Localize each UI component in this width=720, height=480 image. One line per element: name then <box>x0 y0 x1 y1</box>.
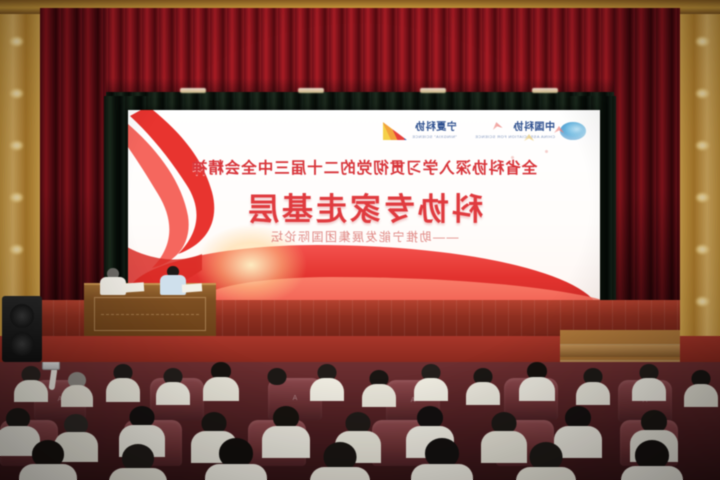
audience-member <box>26 440 70 480</box>
audience-member <box>468 368 498 402</box>
logo-label-en: "NINGXIA" SCIENCE <box>412 135 457 139</box>
audience-member <box>318 442 362 480</box>
globe-icon <box>560 122 586 140</box>
audience-member <box>116 444 160 480</box>
audience-member <box>262 368 292 402</box>
confetti-dot-icon <box>545 150 548 153</box>
audience-member <box>524 442 568 480</box>
audience-member <box>268 406 304 450</box>
audience-member <box>312 364 342 398</box>
audience-area: A A A A A A <box>0 362 720 480</box>
logo-label-cn: 宁夏科协 <box>412 123 457 133</box>
banner-subtitle: ——助推宁能发展集团国际论坛 <box>128 228 600 245</box>
audience-member <box>158 368 188 402</box>
podium-front-panel <box>94 297 206 331</box>
audience-member <box>420 438 464 480</box>
podium-papers <box>122 282 145 293</box>
banner-title: 全省科协深入学习贯彻党的二十届三中全会精神 <box>128 156 600 178</box>
smartphone-icon <box>42 362 60 370</box>
banner-headline: 科协专家走基层 <box>128 184 600 229</box>
logo-ningxia-science-brand: 宁夏科协 "NINGXIA" SCIENCE <box>383 122 457 140</box>
audience-member <box>364 370 394 404</box>
pa-tower-speaker <box>2 296 42 362</box>
audience-member <box>206 362 236 396</box>
audience-member <box>214 438 258 480</box>
audience-member <box>108 364 138 398</box>
stage-curtain-right <box>614 8 680 338</box>
banner-logo-row: 中国科协 CHINA ASSOCIATION FOR SCIENCE 宁夏科协 … <box>128 114 600 148</box>
conference-photo: 中国科协 CHINA ASSOCIATION FOR SCIENCE 宁夏科协 … <box>0 0 720 480</box>
logo-label-en: CHINA ASSOCIATION FOR SCIENCE <box>475 135 555 139</box>
audience-member <box>634 364 664 398</box>
audience-member <box>686 370 716 404</box>
ceiling-lamps <box>180 88 560 98</box>
fan-icon <box>383 122 407 140</box>
audience-member <box>486 412 522 456</box>
podium-papers <box>182 283 203 292</box>
audience-member <box>630 440 674 480</box>
audience-member <box>416 364 446 398</box>
audience-phone-camera <box>36 362 76 388</box>
audience-member <box>522 362 552 396</box>
logo-label-cn: 中国科协 <box>475 123 555 133</box>
audience-member <box>578 368 608 402</box>
